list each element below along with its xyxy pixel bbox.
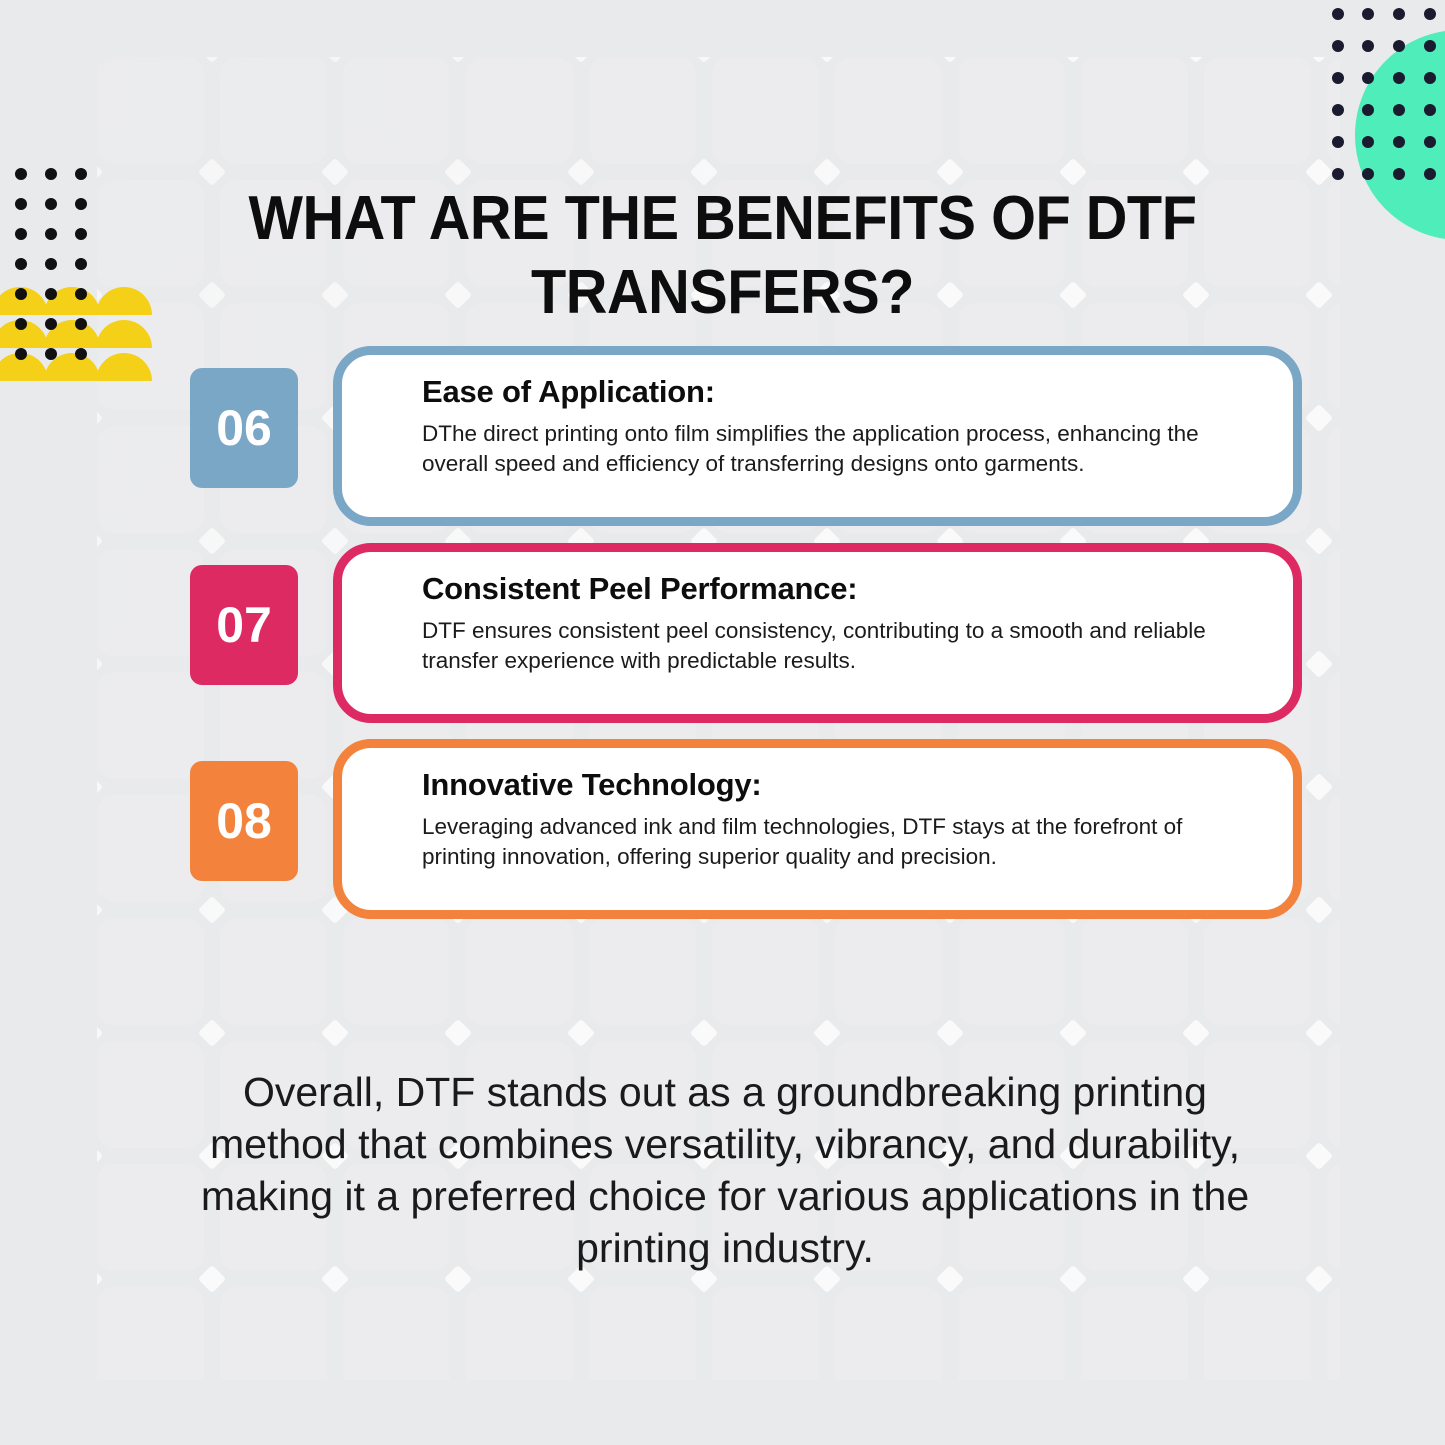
card-body-07: DTF ensures consistent peel consistency,… [422, 616, 1222, 676]
card-surface-06: Ease of Application: DThe direct printin… [333, 346, 1302, 526]
card-surface-07: Consistent Peel Performance: DTF ensures… [333, 543, 1302, 723]
summary-paragraph: Overall, DTF stands out as a groundbreak… [180, 1066, 1270, 1274]
card-heading-08: Innovative Technology: [422, 766, 1267, 804]
benefit-row-06: 06 Ease of Application: DThe direct prin… [190, 340, 1260, 520]
benefit-card-08[interactable]: Innovative Technology: Leveraging advanc… [333, 739, 1250, 909]
card-heading-06: Ease of Application: [422, 373, 1267, 411]
card-heading-07: Consistent Peel Performance: [422, 570, 1267, 608]
card-body-06: DThe direct printing onto film simplifie… [422, 419, 1222, 479]
benefit-row-07: 07 Consistent Peel Performance: DTF ensu… [190, 537, 1260, 717]
badge-number-06: 06 [190, 368, 298, 488]
card-body-08: Leveraging advanced ink and film technol… [422, 812, 1222, 872]
badge-number-08: 08 [190, 761, 298, 881]
badge-number-07: 07 [190, 565, 298, 685]
benefit-card-07[interactable]: Consistent Peel Performance: DTF ensures… [333, 543, 1250, 713]
benefit-card-06[interactable]: Ease of Application: DThe direct printin… [333, 346, 1250, 516]
benefit-row-08: 08 Innovative Technology: Leveraging adv… [190, 733, 1260, 913]
card-surface-08: Innovative Technology: Leveraging advanc… [333, 739, 1302, 919]
